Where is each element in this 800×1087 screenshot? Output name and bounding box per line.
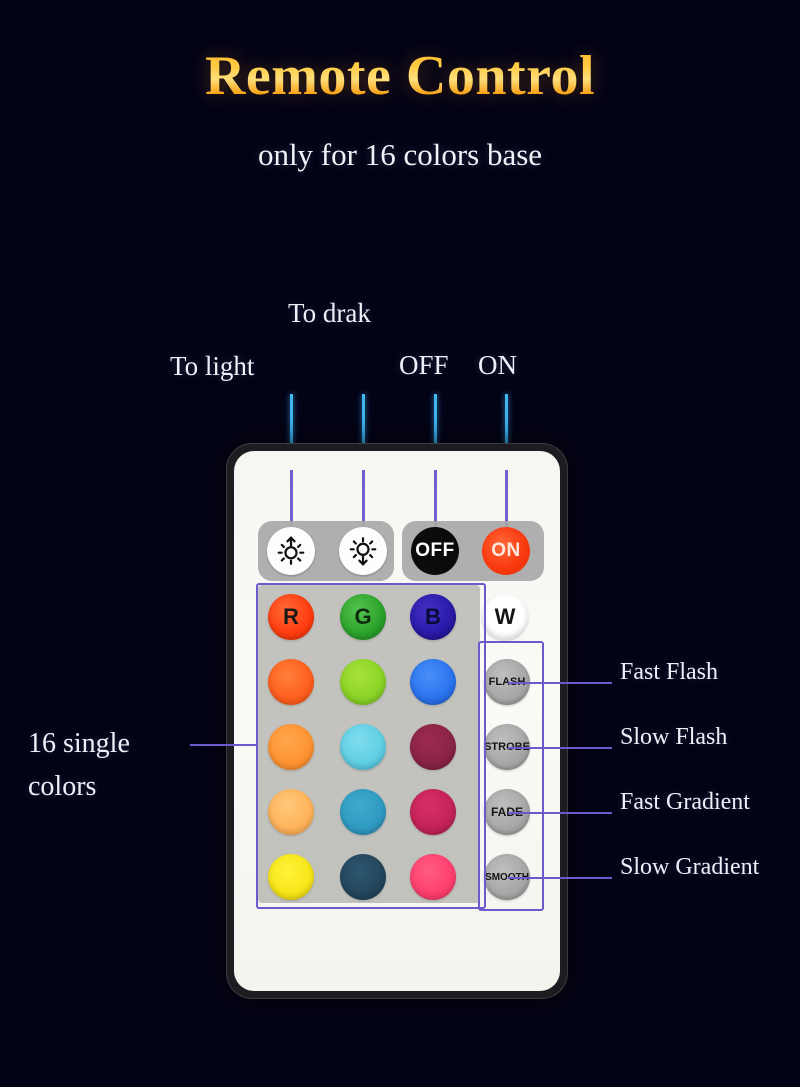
page-title: Remote Control: [0, 44, 800, 108]
leader-line-slow-flash: [508, 747, 612, 749]
callout-on: ON: [478, 350, 517, 381]
annotation-slow-gradient: Slow Gradient: [620, 854, 759, 881]
brightness-down-button[interactable]: [339, 527, 387, 575]
leader-line-fast-gradient: [508, 812, 612, 814]
callout-to-dark: To drak: [288, 298, 371, 329]
page-subtitle: only for 16 colors base: [0, 137, 800, 173]
annotation-fast-flash: Fast Flash: [620, 659, 718, 686]
callout-to-light: To light: [170, 351, 254, 382]
leader-line-slow-gradient: [508, 877, 612, 879]
color-group-outline: [256, 583, 486, 909]
annotation-16-single-colors: 16 single colors: [28, 722, 130, 809]
leader-line-16-colors: [190, 744, 258, 746]
color-button-w[interactable]: W: [482, 594, 528, 640]
annotation-slow-flash: Slow Flash: [620, 724, 727, 751]
sun-down-icon: [346, 534, 380, 568]
poster-canvas: Remote Control only for 16 colors base T…: [0, 0, 800, 1087]
leader-line-fast-flash: [508, 682, 612, 684]
annotation-16-colors-line2: colors: [28, 765, 130, 808]
callout-off: OFF: [399, 350, 449, 381]
sun-up-icon: [274, 534, 308, 568]
brightness-up-button[interactable]: [267, 527, 315, 575]
power-off-button[interactable]: OFF: [411, 527, 459, 575]
annotation-fast-gradient: Fast Gradient: [620, 789, 750, 816]
annotation-16-colors-line1: 16 single: [28, 722, 130, 765]
power-on-button[interactable]: ON: [482, 527, 530, 575]
